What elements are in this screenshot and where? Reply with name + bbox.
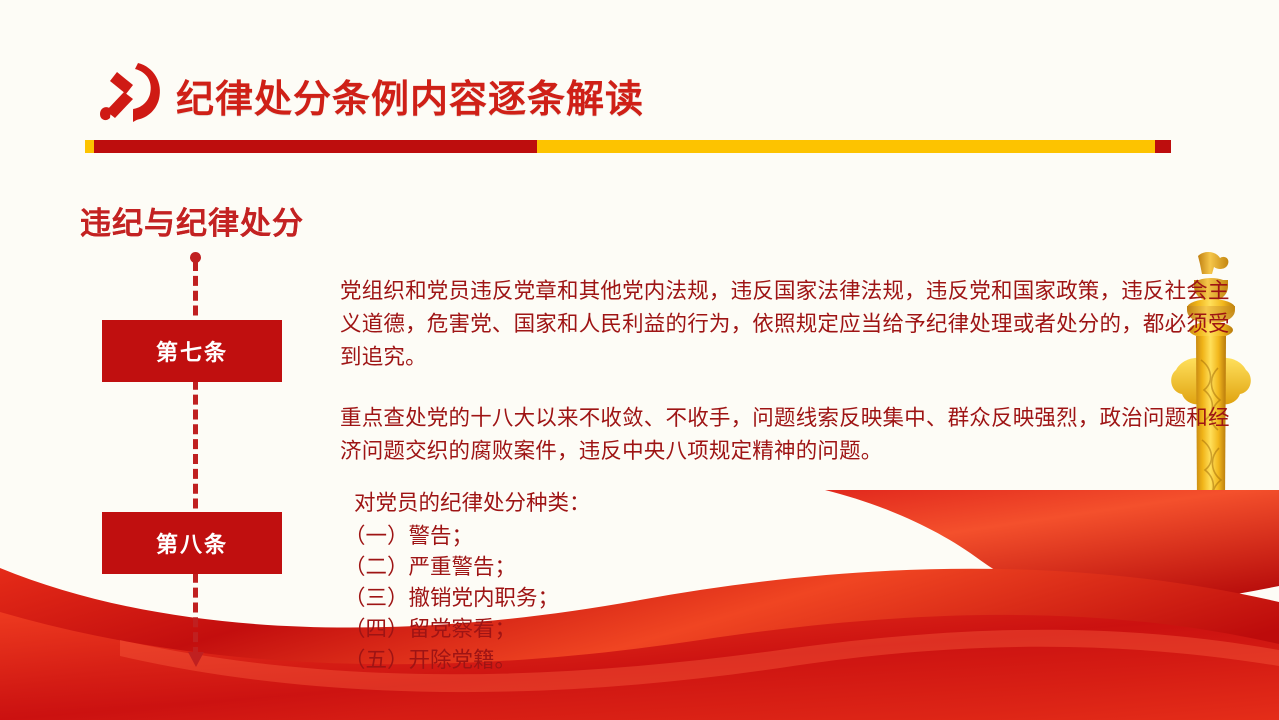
list-item: （五）开除党籍。 xyxy=(344,645,591,676)
article-eight-content: 对党员的纪律处分种类： （一）警告； （二）严重警告； （三）撤销党内职务； （… xyxy=(344,488,591,676)
timeline-arrow-icon xyxy=(188,652,204,667)
golden-stars-image xyxy=(960,580,1279,720)
list-item: （三）撤销党内职务； xyxy=(344,583,591,614)
presentation-slide: 纪律处分条例内容逐条解读 违纪与纪律处分 第七条 第八条 党组织和党员违反党章和… xyxy=(0,0,1279,720)
paragraph-two: 重点查处党的十八大以来不收敛、不收手，问题线索反映集中、群众反映强烈，政治问题和… xyxy=(340,402,1250,468)
list-title: 对党员的纪律处分种类： xyxy=(354,488,591,519)
page-title: 纪律处分条例内容逐条解读 xyxy=(176,68,644,123)
divider-gold-main xyxy=(537,140,1155,153)
article-seven-content: 党组织和党员违反党章和其他党内法规，违反国家法律法规，违反党和国家政策，违反社会… xyxy=(340,275,1250,468)
article-chip-eight[interactable]: 第八条 xyxy=(102,512,282,574)
slide-header: 纪律处分条例内容逐条解读 xyxy=(0,0,1279,160)
section-heading: 违纪与纪律处分 xyxy=(80,198,304,243)
list-item: （二）严重警告； xyxy=(344,552,591,583)
timeline-connector xyxy=(188,252,204,672)
divider-red-main xyxy=(94,140,537,153)
paragraph-one: 党组织和党员违反党章和其他党内法规，违反国家法律法规，违反党和国家政策，违反社会… xyxy=(340,275,1250,374)
list-item: （一）警告； xyxy=(344,521,591,552)
divider-gold-start xyxy=(85,140,94,153)
party-emblem-hammer-sickle-icon xyxy=(97,60,167,128)
divider-red-end xyxy=(1155,140,1171,153)
list-item: （四）留党察看； xyxy=(344,614,591,645)
article-chip-seven[interactable]: 第七条 xyxy=(102,320,282,382)
